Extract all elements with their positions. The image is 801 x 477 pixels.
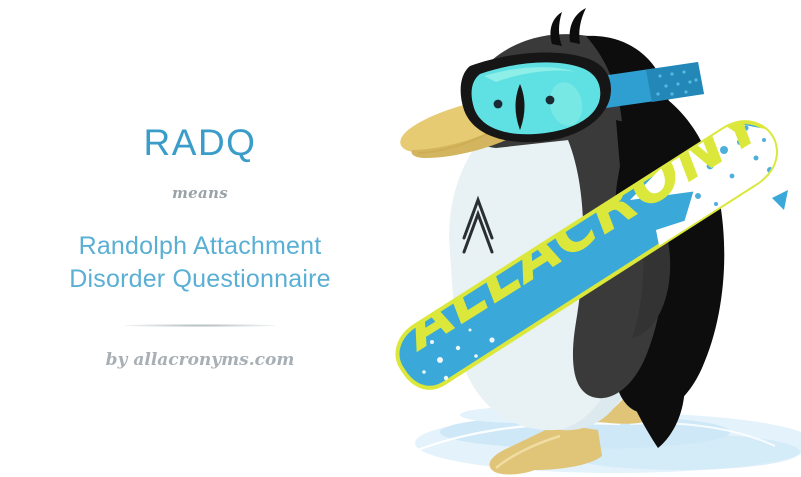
text-panel: RADQ means Randolph Attachment Disorder … (0, 0, 400, 477)
acronym-definition-card: RADQ means Randolph Attachment Disorder … (0, 0, 801, 477)
acronym-expansion: Randolph Attachment Disorder Questionnai… (35, 230, 365, 296)
penguin-snowboarder-illustration: ALLACRONYMS (380, 0, 801, 477)
site-attribution: by allacronyms.com (106, 350, 295, 370)
means-connector-label: means (172, 184, 228, 202)
ornamental-divider (124, 324, 276, 327)
penguin-svg: ALLACRONYMS (380, 0, 801, 477)
acronym-title: RADQ (144, 124, 257, 161)
